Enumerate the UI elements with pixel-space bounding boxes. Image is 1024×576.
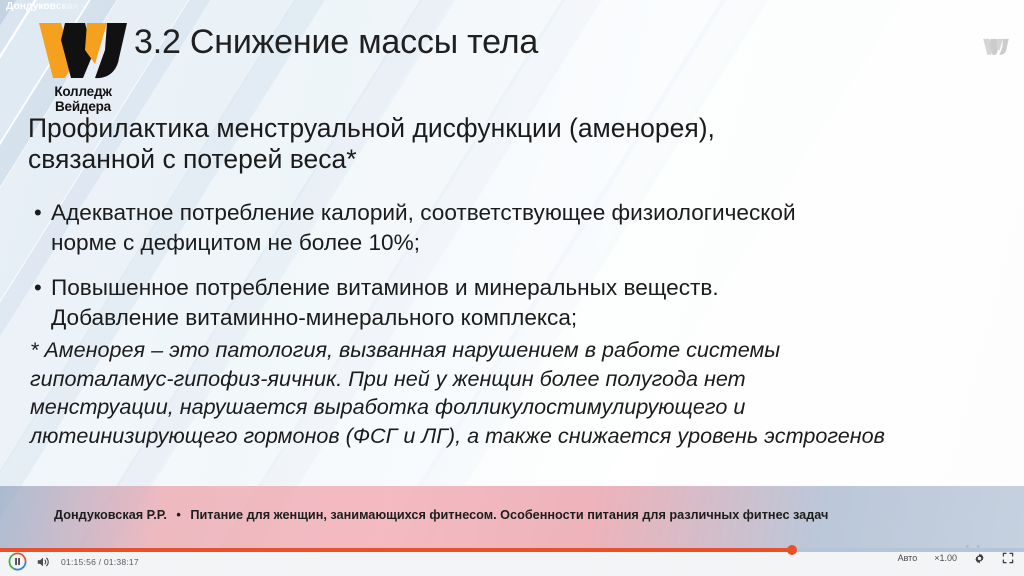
fullscreen-icon[interactable] — [1002, 552, 1014, 564]
quality-selector[interactable]: Авто — [898, 553, 918, 563]
slide-footer-band: Дондуковская Р.Р. • Питание для женщин, … — [0, 486, 1024, 548]
slide-title: 3.2 Снижение массы тела — [134, 22, 538, 62]
wader-w-watermark — [982, 38, 1010, 56]
video-player-screen: Колледж Вейдера 3.2 Снижение массы тела … — [0, 0, 1024, 576]
logo-text: Колледж Вейдера — [27, 85, 139, 114]
footer-separator: • — [170, 508, 186, 522]
player-left-controls: 01:15:56 / 01:38:17 — [8, 552, 139, 571]
wader-college-w-logo — [35, 20, 131, 82]
slide-bullet-list: • Адекватное потребление калорий, соотве… — [32, 198, 998, 348]
footnote-line: менструации, нарушается выработка фоллик… — [30, 393, 1022, 422]
time-display: 01:15:56 / 01:38:17 — [61, 557, 139, 567]
bullet-line: Адекватное потребление калорий, соответс… — [51, 198, 998, 228]
footnote-line: * Аменорея – это патология, вызванная на… — [30, 336, 1022, 365]
college-logo: Колледж Вейдера — [27, 20, 139, 114]
subtitle-line: связанной с потерей веса* — [28, 144, 928, 175]
bullet-line: Добавление витаминно-минерального компле… — [51, 303, 998, 333]
progress-scrubber[interactable] — [0, 548, 1024, 552]
bullet-line: Повышенное потребление витаминов и минер… — [51, 273, 998, 303]
gear-icon[interactable] — [974, 553, 985, 564]
footer-course: Питание для женщин, занимающихся фитнесо… — [190, 508, 828, 522]
play-pause-button[interactable] — [8, 552, 27, 571]
slide-footnote: * Аменорея – это патология, вызванная на… — [30, 336, 1022, 450]
slide-subtitle: Профилактика менструальной дисфункции (а… — [28, 113, 928, 175]
footnote-line: гипоталамус-гипофиз-яичник. При ней у же… — [30, 365, 1022, 394]
progress-knob[interactable] — [787, 545, 797, 555]
footer-author: Дондуковская Р.Р. — [54, 508, 167, 522]
player-control-bar: 01:15:56 / 01:38:17 Авто ×1.00 — [0, 548, 1024, 576]
logo-text-line1: Колледж — [27, 85, 139, 100]
bullet-marker: • — [34, 273, 42, 303]
list-item: • Адекватное потребление калорий, соотве… — [32, 198, 998, 257]
presentation-slide: Колледж Вейдера 3.2 Снижение массы тела … — [0, 0, 1024, 548]
subtitle-line: Профилактика менструальной дисфункции (а… — [28, 113, 928, 144]
playback-speed-selector[interactable]: ×1.00 — [934, 553, 957, 563]
footnote-line: лютеинизирующего гормонов (ФСГ и ЛГ), а … — [30, 422, 1022, 451]
slide-footer-text: Дондуковская Р.Р. • Питание для женщин, … — [54, 508, 828, 522]
bullet-marker: • — [34, 198, 42, 228]
player-right-controls: Авто ×1.00 — [898, 552, 1014, 564]
bullet-line: норме с дефицитом не более 10%; — [51, 228, 998, 258]
volume-button[interactable] — [36, 555, 50, 569]
logo-text-line2: Вейдера — [27, 100, 139, 115]
list-item: • Повышенное потребление витаминов и мин… — [32, 273, 998, 332]
